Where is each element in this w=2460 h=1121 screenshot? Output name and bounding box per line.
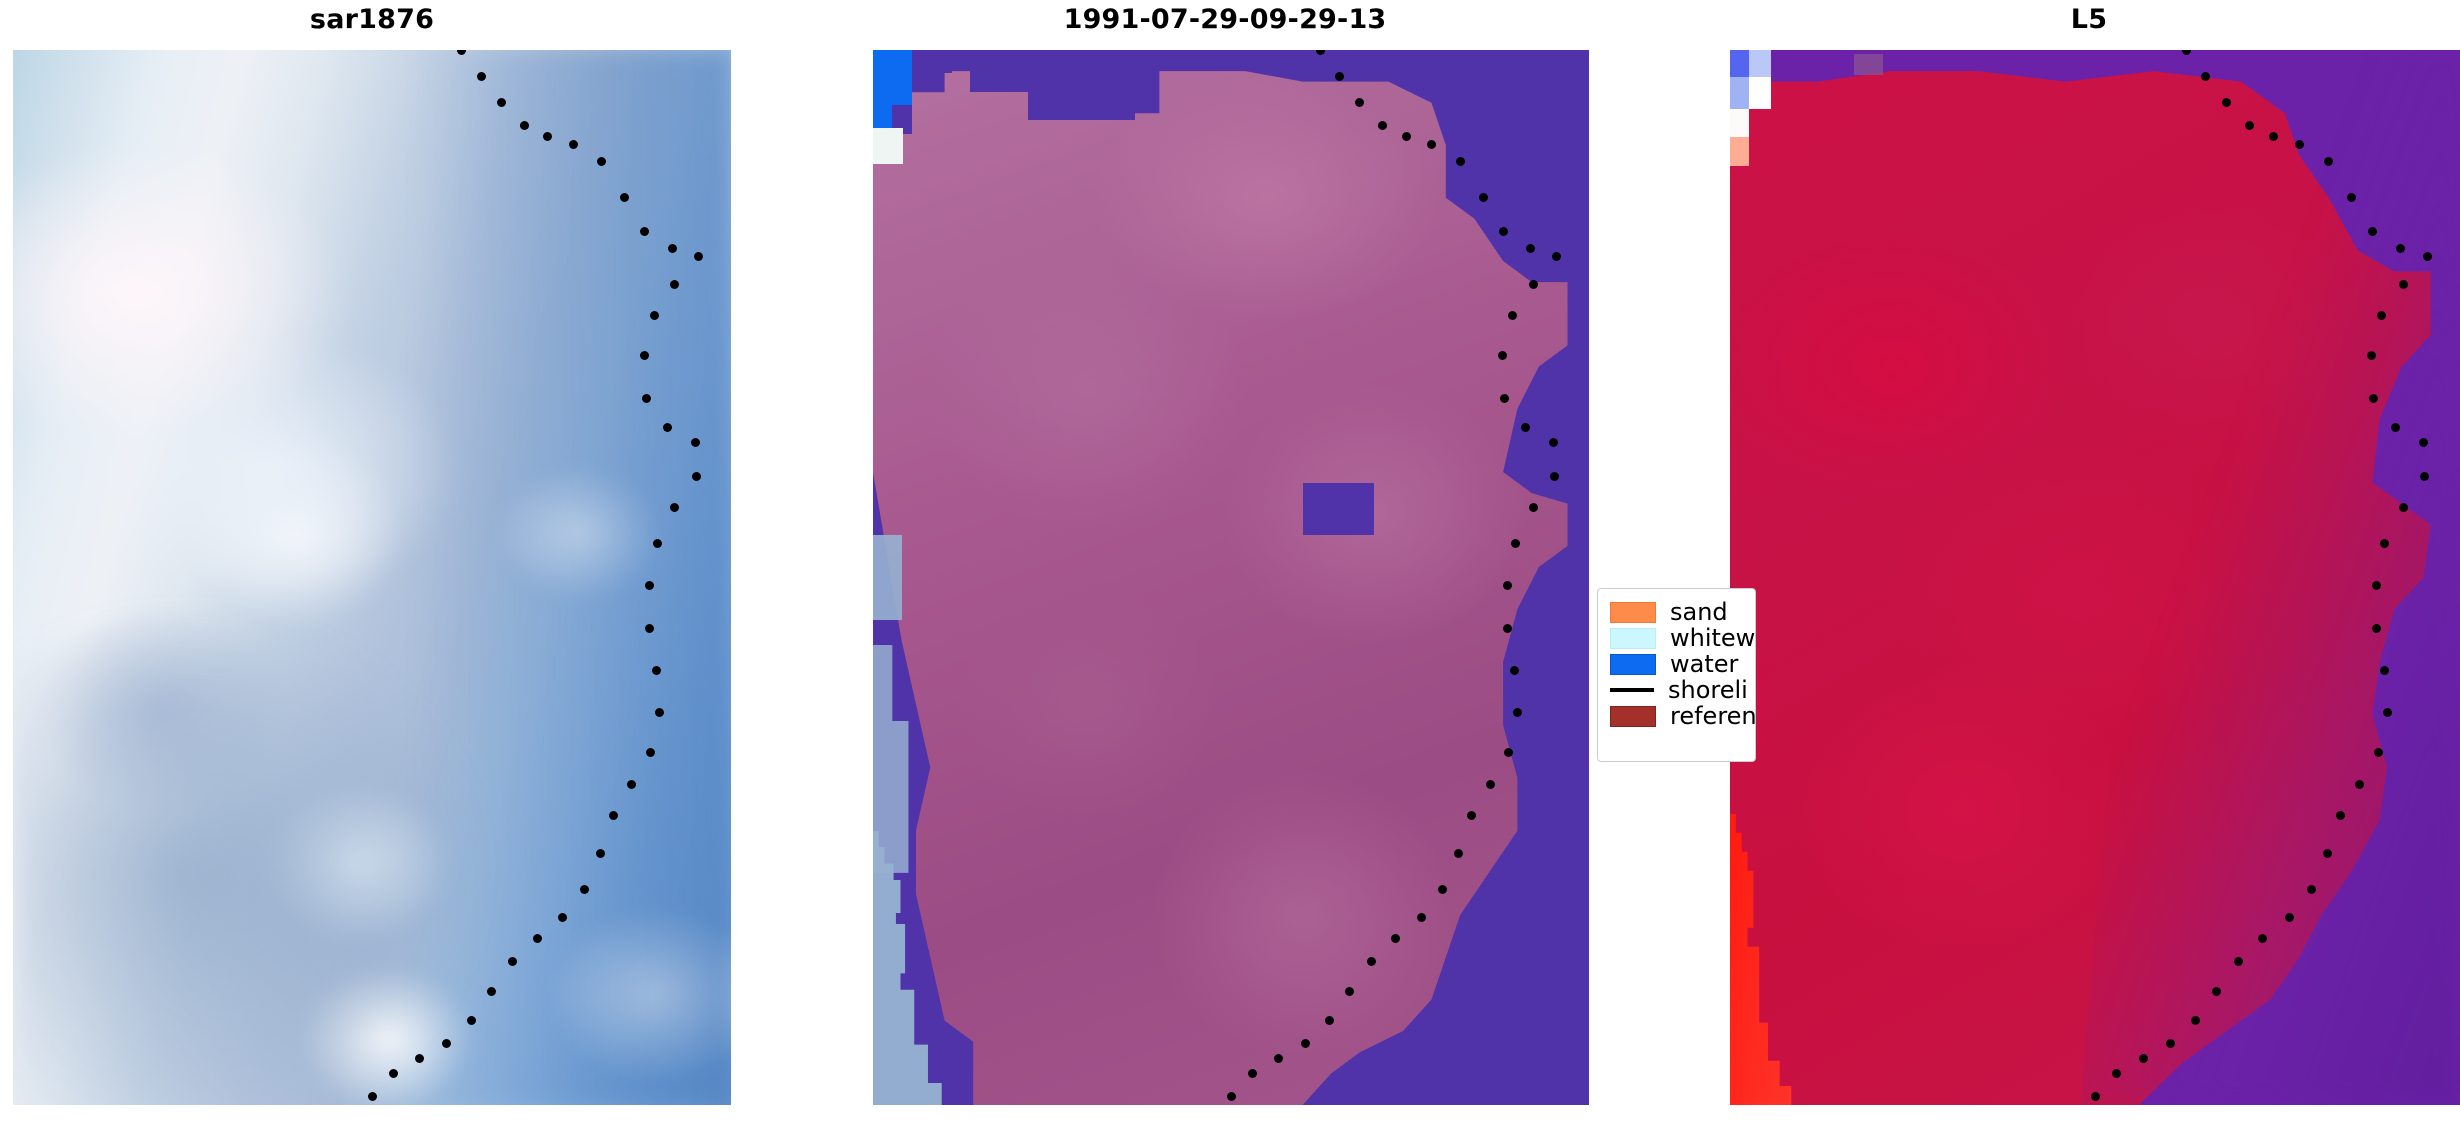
shoreline-dot	[1467, 811, 1476, 820]
whitewater-swatch	[1610, 628, 1656, 649]
shoreline-dot	[1526, 244, 1535, 253]
shoreline-dot	[1486, 780, 1495, 789]
shoreline-dot	[2396, 244, 2405, 253]
legend-box: sand whitew water shoreli referen	[1597, 588, 1756, 762]
shoreline-dot	[1511, 539, 1520, 548]
shoreline-dot	[2368, 227, 2377, 236]
shoreline-dot	[2222, 98, 2231, 107]
shoreline-dot	[691, 438, 700, 447]
shoreline-dot	[2285, 913, 2294, 922]
shoreline-dot	[2391, 423, 2400, 432]
shoreline-dot	[620, 193, 629, 202]
shoreline-dot	[2383, 708, 2392, 717]
shoreline-dot	[1402, 132, 1411, 141]
shoreline-dot	[1355, 98, 1364, 107]
shoreline-dot	[1550, 472, 1559, 481]
shoreline-dot	[1367, 957, 1376, 966]
shoreline-overlay-l5	[1730, 50, 2460, 1105]
shoreline-dot	[1316, 50, 1325, 55]
panel-sar1876: sar1876	[13, 0, 731, 1110]
shoreline-dot	[1378, 121, 1387, 130]
legend-item-shoreline[interactable]: shoreli	[1610, 677, 1743, 703]
shoreline-dot	[1479, 193, 1488, 202]
shoreline-dot	[520, 121, 529, 130]
panel-l5: L5	[1718, 0, 2460, 1110]
shoreline-dot	[2245, 121, 2254, 130]
shoreline-dot	[2307, 885, 2316, 894]
shoreline-dot	[2420, 472, 2429, 481]
shoreline-dot	[2399, 280, 2408, 289]
shoreline-dot	[640, 227, 649, 236]
shoreline-dot	[1510, 666, 1519, 675]
shoreline-dot	[2399, 503, 2408, 512]
shoreline-dot	[668, 244, 677, 253]
shoreline-dot	[2372, 624, 2381, 633]
shoreline-dot	[663, 423, 672, 432]
shoreline-dot	[2212, 987, 2221, 996]
shoreline-dot	[1549, 438, 1558, 447]
shoreline-dot	[2112, 1069, 2121, 1078]
legend-item-reference[interactable]: referen	[1610, 703, 1743, 729]
shoreline-dot	[597, 157, 606, 166]
shoreline-dot	[467, 1016, 476, 1025]
shoreline-dot	[655, 708, 664, 717]
figure-root: sar1876 1991-07-29-09-29-13	[0, 0, 2460, 1121]
shoreline-dot	[2367, 351, 2376, 360]
legend-label-sand: sand	[1670, 599, 1728, 625]
panel-classification: 1991-07-29-09-29-13	[860, 0, 1590, 1110]
shoreline-dot	[640, 351, 649, 360]
shoreline-dot	[1248, 1069, 1257, 1078]
shoreline-dot	[1503, 581, 1512, 590]
shoreline-dot	[2182, 50, 2191, 55]
shoreline-dot	[487, 987, 496, 996]
shoreline-dot	[653, 539, 662, 548]
shoreline-dot	[389, 1069, 398, 1078]
shoreline-dot	[415, 1054, 424, 1063]
sand-swatch	[1610, 602, 1656, 623]
shoreline-dot	[670, 503, 679, 512]
shoreline-dot	[569, 140, 578, 149]
shoreline-dot	[2201, 72, 2210, 81]
shoreline-dot	[543, 132, 552, 141]
shoreline-dot	[1503, 624, 1512, 633]
shoreline-dot	[2347, 193, 2356, 202]
water-swatch	[1610, 654, 1656, 675]
shoreline-dot	[670, 280, 679, 289]
shoreline-dot	[1335, 72, 1344, 81]
shoreline-dot	[652, 666, 661, 675]
shoreline-dot	[2380, 539, 2389, 548]
shoreline-overlay-sar1876	[13, 50, 731, 1105]
legend-label-reference: referen	[1670, 703, 1756, 729]
legend-label-whitewater: whitew	[1670, 625, 1755, 651]
shoreline-overlay-classification	[873, 50, 1589, 1105]
legend-item-whitewater[interactable]: whitew	[1610, 625, 1743, 651]
shoreline-dot	[2355, 780, 2364, 789]
shoreline-dot	[1508, 311, 1517, 320]
shoreline-dot	[2380, 666, 2389, 675]
shoreline-dot	[2091, 1092, 2100, 1101]
shoreline-dot	[558, 913, 567, 922]
shoreline-dot	[694, 252, 703, 261]
shoreline-dot	[1500, 394, 1509, 403]
panel-title-classification: 1991-07-29-09-29-13	[860, 0, 1590, 40]
shoreline-dot	[1521, 423, 1530, 432]
shoreline-dot	[650, 311, 659, 320]
shoreline-dot	[368, 1092, 377, 1101]
panel-title-l5: L5	[1718, 0, 2460, 40]
shoreline-dot	[457, 50, 466, 55]
panel-title-sar1876: sar1876	[13, 0, 731, 40]
shoreline-dot	[1552, 252, 1561, 261]
shoreline-dot	[1504, 748, 1513, 757]
shoreline-dot	[2419, 438, 2428, 447]
shoreline-dot	[477, 72, 486, 81]
shoreline-dot	[2369, 394, 2378, 403]
shoreline-dot	[646, 748, 655, 757]
shoreline-dot	[642, 394, 651, 403]
shoreline-dot	[1417, 913, 1426, 922]
shoreline-dot	[2139, 1054, 2148, 1063]
shoreline-dot	[1498, 351, 1507, 360]
shoreline-dot	[2324, 157, 2333, 166]
shoreline-dot	[1529, 280, 1538, 289]
shoreline-swatch	[1610, 688, 1654, 692]
shoreline-dot	[2374, 748, 2383, 757]
shoreline-dot	[627, 780, 636, 789]
shoreline-dot	[1345, 987, 1354, 996]
shoreline-dot	[645, 624, 654, 633]
shoreline-dot	[1274, 1054, 1283, 1063]
shoreline-dot	[1301, 1039, 1310, 1048]
shoreline-dot	[508, 957, 517, 966]
legend-item-water[interactable]: water	[1610, 651, 1743, 677]
shoreline-dot	[1227, 1092, 1236, 1101]
panel-image-l5	[1730, 50, 2460, 1105]
legend-label-water: water	[1670, 651, 1738, 677]
shoreline-dot	[1391, 934, 1400, 943]
legend-label-shoreline: shoreli	[1668, 677, 1748, 703]
reference-swatch	[1610, 706, 1656, 727]
shoreline-dot	[1325, 1016, 1334, 1025]
shoreline-dot	[1438, 885, 1447, 894]
shoreline-dot	[2323, 849, 2332, 858]
shoreline-dot	[2234, 957, 2243, 966]
shoreline-dot	[2166, 1039, 2175, 1048]
shoreline-dot	[2269, 132, 2278, 141]
shoreline-dot	[692, 472, 701, 481]
shoreline-dot	[2258, 934, 2267, 943]
shoreline-dot	[1513, 708, 1522, 717]
shoreline-dot	[1456, 157, 1465, 166]
shoreline-dot	[2191, 1016, 2200, 1025]
panel-image-classification	[873, 50, 1589, 1105]
shoreline-dot	[580, 885, 589, 894]
panel-image-sar1876	[13, 50, 731, 1105]
shoreline-dot	[2295, 140, 2304, 149]
shoreline-dot	[442, 1039, 451, 1048]
shoreline-dot	[609, 811, 618, 820]
shoreline-dot	[1454, 849, 1463, 858]
shoreline-dot	[1529, 503, 1538, 512]
shoreline-dot	[2372, 581, 2381, 590]
shoreline-dot	[1427, 140, 1436, 149]
shoreline-dot	[533, 934, 542, 943]
legend-item-sand[interactable]: sand	[1610, 599, 1743, 625]
shoreline-dot	[596, 849, 605, 858]
shoreline-dot	[497, 98, 506, 107]
shoreline-dot	[2336, 811, 2345, 820]
shoreline-dot	[645, 581, 654, 590]
shoreline-dot	[2423, 252, 2432, 261]
shoreline-dot	[1499, 227, 1508, 236]
shoreline-dot	[2377, 311, 2386, 320]
